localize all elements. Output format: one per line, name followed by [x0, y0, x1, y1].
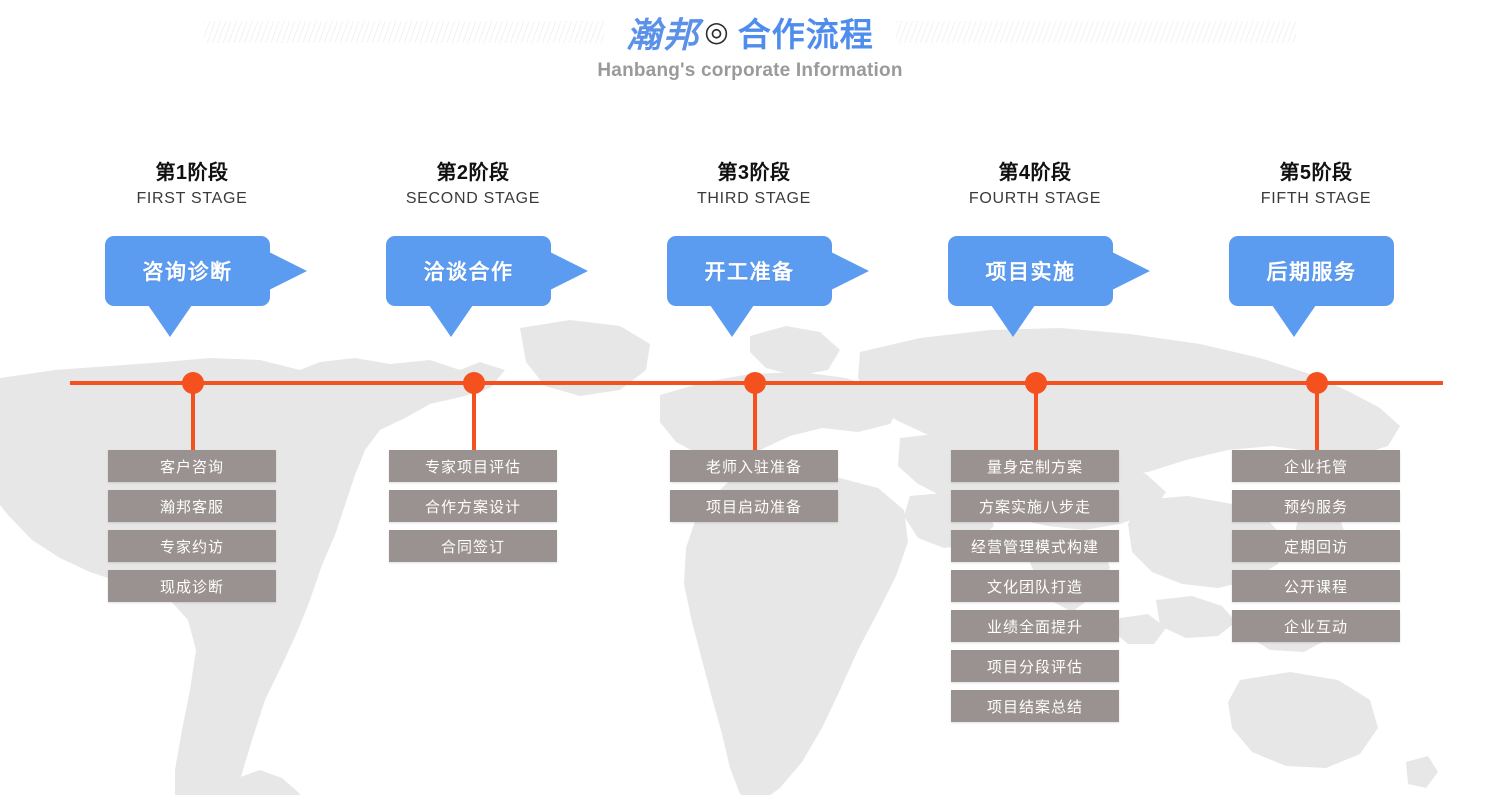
stage-column-3: 第3阶段 THIRD STAGE 开工准备 老师入驻准备 项目启动准备: [614, 160, 894, 366]
stage-header-2: 第2阶段 SECOND STAGE: [333, 160, 613, 222]
decorative-hatch-left: [204, 21, 604, 43]
stage-header-1: 第1阶段 FIRST STAGE: [52, 160, 332, 222]
stage-label-cn-5: 第5阶段: [1176, 160, 1456, 186]
stage-column-4: 第4阶段 FOURTH STAGE 项目实施 量身定制方案 方案实施八步走 经营…: [895, 160, 1175, 366]
list-item[interactable]: 经营管理模式构建: [951, 530, 1119, 562]
stage-items-2: 专家项目评估 合作方案设计 合同签订: [333, 450, 613, 570]
bubble-tail-down-icon-4: [991, 305, 1035, 337]
page-header: 瀚邦 ◎ 合作流程 Hanbang's corporate Informatio…: [0, 0, 1500, 110]
page-subtitle: Hanbang's corporate Information: [0, 60, 1500, 82]
stage-label-en-5: FIFTH STAGE: [1176, 188, 1456, 210]
list-item[interactable]: 项目启动准备: [670, 490, 838, 522]
stage-items-4: 量身定制方案 方案实施八步走 经营管理模式构建 文化团队打造 业绩全面提升 项目…: [895, 450, 1175, 730]
stage-label-en-3: THIRD STAGE: [614, 188, 894, 210]
stage-label-en-1: FIRST STAGE: [52, 188, 332, 210]
list-item[interactable]: 量身定制方案: [951, 450, 1119, 482]
stage-bubble-wrap-5: 后期服务: [1176, 236, 1456, 366]
list-item[interactable]: 合同签订: [389, 530, 557, 562]
stage-label-cn-1: 第1阶段: [52, 160, 332, 186]
list-item[interactable]: 项目结案总结: [951, 690, 1119, 722]
bubble-tail-down-icon-2: [429, 305, 473, 337]
bubble-tail-down-icon-3: [710, 305, 754, 337]
brand-name-cn: 瀚邦: [626, 7, 700, 58]
list-item[interactable]: 合作方案设计: [389, 490, 557, 522]
list-item[interactable]: 客户咨询: [108, 450, 276, 482]
list-item[interactable]: 项目分段评估: [951, 650, 1119, 682]
stage-column-1: 第1阶段 FIRST STAGE 咨询诊断 客户咨询 瀚邦客服 专家约访 现成诊…: [52, 160, 332, 366]
stage-column-2: 第2阶段 SECOND STAGE 洽谈合作 专家项目评估 合作方案设计 合同签…: [333, 160, 613, 366]
list-item[interactable]: 专家项目评估: [389, 450, 557, 482]
stage-label-cn-2: 第2阶段: [333, 160, 613, 186]
list-item[interactable]: 企业互动: [1232, 610, 1400, 642]
list-item[interactable]: 现成诊断: [108, 570, 276, 602]
stage-columns: 第1阶段 FIRST STAGE 咨询诊断 客户咨询 瀚邦客服 专家约访 现成诊…: [0, 0, 1500, 795]
list-item[interactable]: 方案实施八步走: [951, 490, 1119, 522]
decorative-hatch-right: [896, 21, 1296, 43]
bubble-arrow-right-icon-4: [1112, 252, 1150, 290]
bubble-arrow-right-icon-2: [550, 252, 588, 290]
stage-bubble-4[interactable]: 项目实施: [948, 236, 1113, 306]
page-title: 瀚邦 ◎ 合作流程: [626, 7, 873, 58]
bubble-arrow-right-icon-1: [269, 252, 307, 290]
list-item[interactable]: 业绩全面提升: [951, 610, 1119, 642]
list-item[interactable]: 专家约访: [108, 530, 276, 562]
stage-header-3: 第3阶段 THIRD STAGE: [614, 160, 894, 222]
bubble-tail-down-icon-1: [148, 305, 192, 337]
stage-bubble-wrap-4: 项目实施: [895, 236, 1175, 366]
page-title-text: 合作流程: [738, 8, 874, 56]
cooperation-process-infographic: 瀚邦 ◎ 合作流程 Hanbang's corporate Informatio…: [0, 0, 1500, 795]
stage-items-5: 企业托管 预约服务 定期回访 公开课程 企业互动: [1176, 450, 1456, 650]
stage-label-cn-3: 第3阶段: [614, 160, 894, 186]
stage-bubble-1[interactable]: 咨询诊断: [105, 236, 270, 306]
title-row: 瀚邦 ◎ 合作流程: [0, 8, 1500, 56]
brand-logo-icon: ◎: [704, 18, 729, 46]
bubble-tail-down-icon-5: [1272, 305, 1316, 337]
stage-bubble-wrap-1: 咨询诊断: [52, 236, 332, 366]
bubble-arrow-right-icon-3: [831, 252, 869, 290]
stage-bubble-3[interactable]: 开工准备: [667, 236, 832, 306]
stage-bubble-5[interactable]: 后期服务: [1229, 236, 1394, 306]
list-item[interactable]: 文化团队打造: [951, 570, 1119, 602]
stage-label-en-2: SECOND STAGE: [333, 188, 613, 210]
list-item[interactable]: 瀚邦客服: [108, 490, 276, 522]
stage-items-3: 老师入驻准备 项目启动准备: [614, 450, 894, 530]
stage-bubble-wrap-3: 开工准备: [614, 236, 894, 366]
list-item[interactable]: 预约服务: [1232, 490, 1400, 522]
stage-label-cn-4: 第4阶段: [895, 160, 1175, 186]
stage-items-1: 客户咨询 瀚邦客服 专家约访 现成诊断: [52, 450, 332, 610]
stage-label-en-4: FOURTH STAGE: [895, 188, 1175, 210]
stage-column-5: 第5阶段 FIFTH STAGE 后期服务 企业托管 预约服务 定期回访 公开课…: [1176, 160, 1456, 366]
stage-bubble-2[interactable]: 洽谈合作: [386, 236, 551, 306]
list-item[interactable]: 公开课程: [1232, 570, 1400, 602]
list-item[interactable]: 老师入驻准备: [670, 450, 838, 482]
list-item[interactable]: 定期回访: [1232, 530, 1400, 562]
stage-bubble-wrap-2: 洽谈合作: [333, 236, 613, 366]
list-item[interactable]: 企业托管: [1232, 450, 1400, 482]
stage-header-4: 第4阶段 FOURTH STAGE: [895, 160, 1175, 222]
stage-header-5: 第5阶段 FIFTH STAGE: [1176, 160, 1456, 222]
